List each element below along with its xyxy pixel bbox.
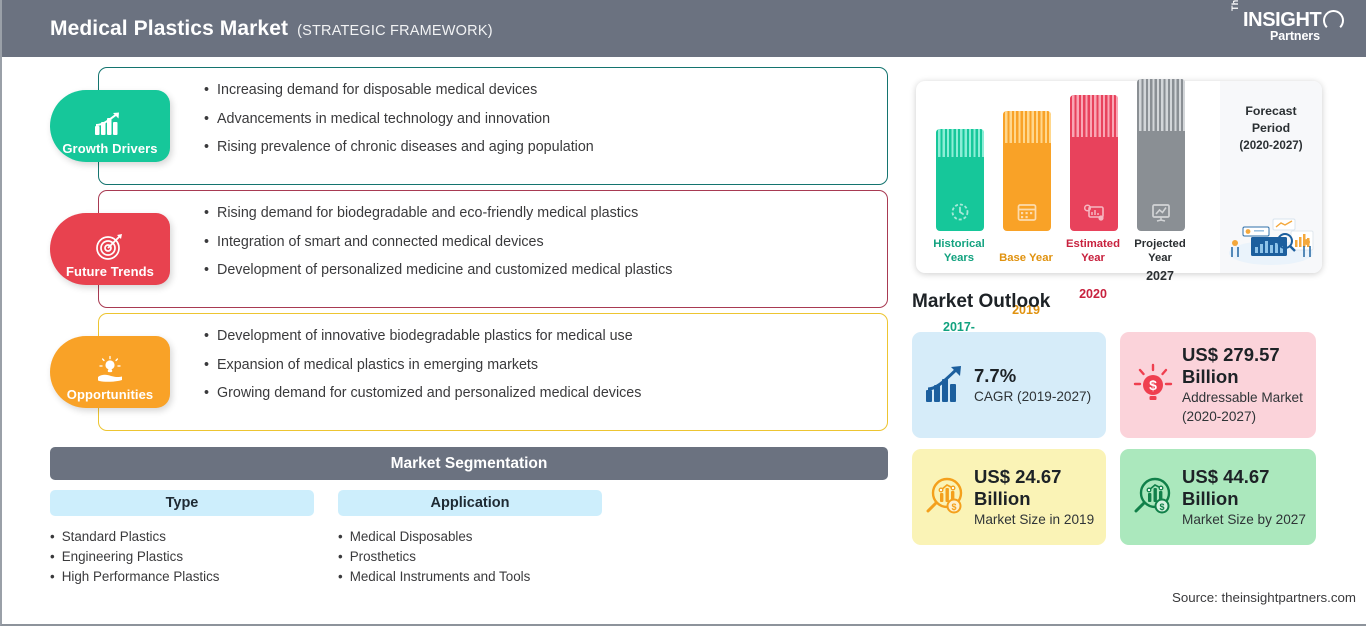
list-item: Rising demand for biodegradable and eco-… [204, 199, 874, 228]
bullet-list: Increasing demand for disposable medical… [204, 76, 874, 162]
left-content-column: Increasing demand for disposable medical… [2, 57, 902, 626]
bar-chart-arrow-icon [93, 109, 127, 139]
list-item: Growing demand for customized and person… [204, 379, 874, 408]
forecast-period-sidebar: Forecast Period (2020-2027) [1220, 81, 1322, 273]
page-subtitle: (STRATEGIC FRAMEWORK) [297, 23, 493, 39]
card-text: 7.7% CAGR (2019-2027) [974, 365, 1096, 406]
card-value: US$ 24.67 Billion [974, 466, 1096, 510]
market-outlook-title: Market Outlook [912, 291, 1050, 313]
page-title: Medical Plastics Market [50, 17, 288, 41]
segmentation-item-list: Medical Disposables Prosthetics Medical … [338, 527, 602, 587]
clock-history-icon [948, 201, 972, 223]
market-segmentation-header: Market Segmentation [50, 447, 888, 480]
logo-partners-text: Partners [1270, 29, 1320, 43]
card-caption: Addressable Market (2020-2027) [1182, 388, 1306, 426]
forecast-period-panel: 2017-2018 Historical Years [916, 81, 1322, 273]
strategy-box: Rising demand for biodegradable and eco-… [98, 190, 888, 308]
bar-year-label: 2020 [1064, 287, 1122, 301]
bar-caption: Base Year [993, 252, 1059, 266]
svg-text:$: $ [1159, 502, 1164, 512]
list-item: Medical Disposables [338, 527, 602, 547]
segmentation-column-title: Application [431, 495, 510, 511]
forecast-range: (2020-2027) [1220, 137, 1322, 154]
segmentation-column-title: Type [166, 495, 199, 511]
card-text: US$ 44.67 Billion Market Size by 2027 [1182, 466, 1306, 529]
bar-stripe-top [1003, 111, 1051, 143]
list-item: Development of personalized medicine and… [204, 256, 874, 285]
forecast-label-line2: Period [1220, 120, 1322, 137]
bar-shape [1003, 111, 1051, 231]
source-note: Source: theinsightpartners.com [1172, 590, 1356, 605]
bar-solid-body [1003, 143, 1051, 231]
list-item: Development of innovative biodegradable … [204, 322, 874, 351]
strategy-box: Development of innovative biodegradable … [98, 313, 888, 431]
forecast-period-text: Forecast Period (2020-2027) [1220, 103, 1322, 154]
bar-stripe-top [1070, 95, 1118, 137]
segmentation-column-type: Type Standard Plastics Engineering Plast… [50, 490, 314, 587]
svg-text:$: $ [1149, 377, 1157, 393]
list-item: Medical Instruments and Tools [338, 567, 602, 587]
magnifier-chart-dollar-orange-icon: $ [922, 474, 968, 520]
list-item: Expansion of medical plastics in emergin… [204, 351, 874, 380]
list-item: Advancements in medical technology and i… [204, 105, 874, 134]
bar-shape [936, 129, 984, 231]
target-dartboard-icon [93, 232, 127, 262]
card-caption: CAGR (2019-2027) [974, 387, 1096, 406]
insight-partners-logo: The INSIGHT Partners [1230, 9, 1346, 49]
strategy-box: Increasing demand for disposable medical… [98, 67, 888, 185]
bar-caption: Projected Year [1127, 238, 1193, 265]
badge-growth-drivers[interactable]: Growth Drivers [50, 90, 170, 162]
logo-arc-icon [1323, 10, 1344, 31]
magnifier-chart-dollar-green-icon: $ [1130, 474, 1176, 520]
bar-shape [1137, 79, 1185, 231]
bar-solid-body [936, 157, 984, 231]
outlook-card-market-size-2019[interactable]: $ US$ 24.67 Billion Market Size in 2019 [912, 449, 1106, 545]
bar-year-label: 2027 [1131, 269, 1189, 283]
hand-lightbulb-icon [93, 355, 127, 385]
segmentation-column-application: Application Medical Disposables Prosthet… [338, 490, 602, 587]
list-item: Integration of smart and connected medic… [204, 228, 874, 257]
badge-label: Future Trends [66, 265, 154, 278]
forecast-label-line1: Forecast [1220, 103, 1322, 120]
bar-solid-body [1070, 137, 1118, 231]
outlook-card-addressable-market[interactable]: $ US$ 279.57 Billion Addressable Market … [1120, 332, 1316, 438]
segmentation-column-header: Application [338, 490, 602, 516]
bullet-list: Development of innovative biodegradable … [204, 322, 874, 408]
list-item: High Performance Plastics [50, 567, 314, 587]
outlook-card-cagr[interactable]: 7.7% CAGR (2019-2027) [912, 332, 1106, 438]
analytics-team-illustration [1225, 213, 1317, 265]
list-item: Engineering Plastics [50, 547, 314, 567]
segmentation-column-header: Type [50, 490, 314, 516]
card-caption: Market Size by 2027 [1182, 510, 1306, 529]
bar-chart-arrow-blue-icon [922, 362, 968, 408]
badge-future-trends[interactable]: Future Trends [50, 213, 170, 285]
bar-shape [1070, 95, 1118, 231]
analytics-gear-icon [1082, 201, 1106, 223]
header-title-group: Medical Plastics Market (STRATEGIC FRAME… [50, 17, 493, 41]
outlook-card-market-size-2027[interactable]: $ US$ 44.67 Billion Market Size by 2027 [1120, 449, 1316, 545]
market-segmentation-title: Market Segmentation [391, 455, 548, 473]
card-value: US$ 279.57 Billion [1182, 344, 1306, 388]
logo-the-text: The [1230, 0, 1240, 11]
infographic-page: Medical Plastics Market (STRATEGIC FRAME… [0, 0, 1366, 626]
card-text: US$ 24.67 Billion Market Size in 2019 [974, 466, 1096, 529]
card-value: 7.7% [974, 365, 1096, 387]
bar-caption: Historical Years [926, 238, 992, 265]
bar-stripe-top [936, 129, 984, 157]
page-header: Medical Plastics Market (STRATEGIC FRAME… [2, 0, 1366, 57]
strategy-row-future-trends: Rising demand for biodegradable and eco-… [2, 190, 902, 308]
badge-label: Opportunities [67, 388, 154, 401]
presentation-chart-icon [1149, 201, 1173, 223]
list-item: Standard Plastics [50, 527, 314, 547]
strategy-row-growth-drivers: Increasing demand for disposable medical… [2, 67, 902, 185]
bar-caption: Estimated Year [1060, 238, 1126, 265]
card-text: US$ 279.57 Billion Addressable Market (2… [1182, 344, 1306, 426]
list-item: Prosthetics [338, 547, 602, 567]
bar-stripe-top [1137, 79, 1185, 131]
list-item: Increasing demand for disposable medical… [204, 76, 874, 105]
right-content-column: 2017-2018 Historical Years [902, 57, 1366, 626]
lightbulb-dollar-icon: $ [1130, 362, 1176, 408]
segmentation-item-list: Standard Plastics Engineering Plastics H… [50, 527, 314, 587]
svg-text:$: $ [951, 502, 956, 512]
card-caption: Market Size in 2019 [974, 510, 1096, 529]
list-item: Rising prevalence of chronic diseases an… [204, 133, 874, 162]
badge-opportunities[interactable]: Opportunities [50, 336, 170, 408]
bullet-list: Rising demand for biodegradable and eco-… [204, 199, 874, 285]
badge-label: Growth Drivers [62, 142, 157, 155]
forecast-bar-chart: 2017-2018 Historical Years [930, 81, 1210, 273]
bar-solid-body [1137, 131, 1185, 231]
card-value: US$ 44.67 Billion [1182, 466, 1306, 510]
calendar-icon [1015, 201, 1039, 223]
strategy-row-opportunities: Development of innovative biodegradable … [2, 313, 902, 431]
